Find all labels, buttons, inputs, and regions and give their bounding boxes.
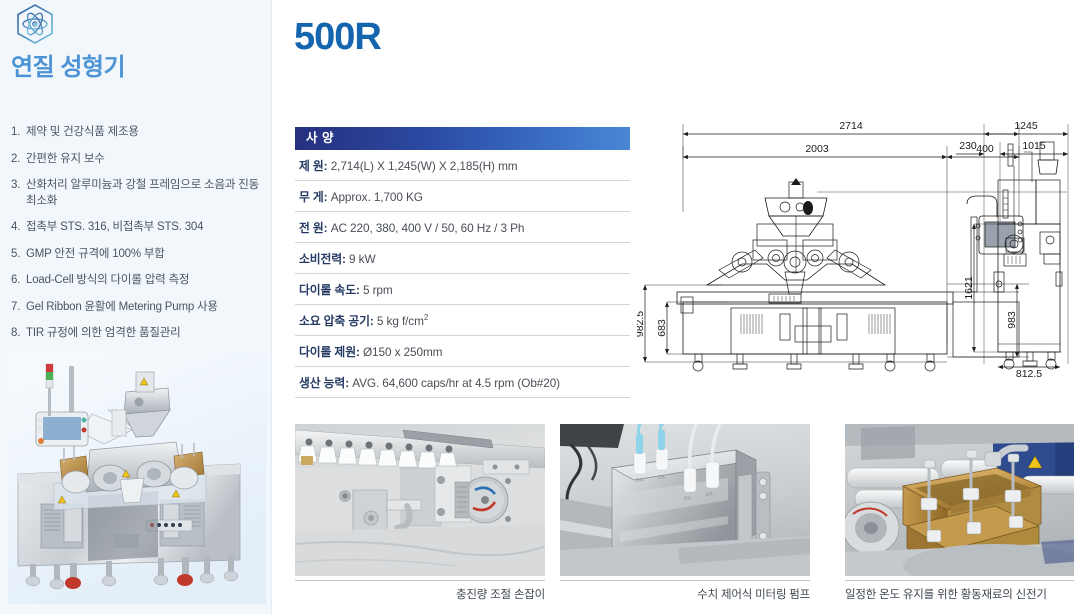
list-item-number: 1. [11, 125, 20, 141]
photo-card: 일정한 온도 유지를 위한 황동재료의 신전기 [845, 424, 1074, 602]
feature-list: 1.제약 및 건강식품 제조용 2.간편한 유지 보수 3.산화처리 알루미늄과… [11, 125, 261, 353]
list-item: 5.GMP 안전 규격에 100% 부합 [11, 247, 261, 263]
spec-label: 전 원: [299, 221, 328, 235]
list-item: 6.Load-Cell 방식의 다이롤 압력 측정 [11, 273, 261, 289]
photo-gallery: 충진량 조절 손잡이 [295, 424, 1074, 604]
list-item: 8.TIR 규정에 의한 엄격한 품질관리 [11, 326, 261, 342]
spec-value: AVG. 64,600 caps/hr at 4.5 rpm (Ob#20) [349, 376, 560, 390]
svg-text:OIL: OIL [705, 491, 714, 498]
atom-hexagon-icon [10, 2, 60, 44]
table-row: 무 게: Approx. 1,700 KG [295, 181, 630, 212]
photo-caption: 수치 제어식 미터링 펌프 [560, 580, 810, 602]
spec-label: 다이롤 속도: [299, 283, 360, 297]
brass-spreader-box-photo [845, 424, 1074, 576]
dim-2714: 2714 [839, 120, 863, 132]
spec-value: Ø150 x 250mm [360, 345, 443, 359]
spec-label: 소비전력: [299, 252, 346, 266]
list-item-label: GMP 안전 규격에 100% 부합 [26, 248, 165, 260]
table-row: 소비전력: 9 kW [295, 243, 630, 274]
photo-card: 충진량 조절 손잡이 [295, 424, 545, 602]
spec-label: 제 원: [299, 159, 328, 173]
logo [10, 2, 60, 44]
spec-label: 소요 압축 공기: [299, 314, 374, 328]
spec-value: 5 kg f/cm [374, 314, 424, 328]
photo-caption: 일정한 온도 유지를 위한 황동재료의 신전기 [845, 580, 1074, 602]
spec-table-header: 사 양 [295, 127, 630, 150]
dim-1245: 1245 [1014, 120, 1038, 132]
dim-2003: 2003 [805, 143, 829, 155]
page-title: 500R [294, 16, 381, 59]
spec-label: 다이롤 제원: [299, 345, 360, 359]
spec-label: 생산 능력: [299, 376, 349, 390]
table-row: 생산 능력: AVG. 64,600 caps/hr at 4.5 rpm (O… [295, 367, 630, 398]
list-item-label: Load-Cell 방식의 다이롤 압력 측정 [26, 274, 189, 286]
list-item-number: 7. [11, 300, 20, 316]
list-item-label: 접촉부 STS. 316, 비접촉부 STS. 304 [26, 221, 203, 233]
svg-text:OIL: OIL [635, 477, 644, 484]
side-elevation-drawing: 1245 1015 230 1621 812.5 [952, 112, 1074, 377]
spec-value-superscript: 2 [424, 313, 428, 322]
svg-text:OIL: OIL [657, 474, 666, 481]
list-item: 3.산화처리 알루미늄과 강철 프레임으로 소음과 진동 최소화 [11, 178, 261, 209]
list-item-number: 3. [11, 178, 20, 194]
table-row: 소요 압축 공기: 5 kg f/cm2 [295, 305, 630, 336]
list-item-number: 6. [11, 273, 20, 289]
sidebar: 연질 성형기 1.제약 및 건강식품 제조용 2.간편한 유지 보수 3.산화처… [0, 0, 272, 614]
spec-value: 2,714(L) X 1,245(W) X 2,185(H) mm [328, 159, 518, 173]
list-item-label: 산화처리 알루미늄과 강철 프레임으로 소음과 진동 최소화 [26, 179, 259, 207]
list-item-label: 간편한 유지 보수 [26, 153, 105, 165]
list-item-label: TIR 규정에 의한 엄격한 품질관리 [26, 327, 180, 339]
list-item-label: 제약 및 건강식품 제조용 [26, 126, 139, 138]
photo-caption: 충진량 조절 손잡이 [295, 580, 545, 602]
spec-value: AC 220, 380, 400 V / 50, 60 Hz / 3 Ph [328, 221, 525, 235]
list-item-label: Gel Ribbon 윤활에 Metering Pump 사용 [26, 301, 218, 313]
list-item: 1.제약 및 건강식품 제조용 [11, 125, 261, 141]
spec-value: 5 rpm [360, 283, 393, 297]
numeric-control-metering-pump-photo: OIL OIL OIL OIL [560, 424, 810, 576]
specification-table: 사 양 제 원: 2,714(L) X 1,245(W) X 2,185(H) … [295, 127, 630, 398]
list-item-number: 2. [11, 152, 20, 168]
main-content: 500R 사 양 제 원: 2,714(L) X 1,245(W) X 2,18… [272, 0, 1074, 614]
table-row: 다이롤 제원: Ø150 x 250mm [295, 336, 630, 367]
list-item: 7.Gel Ribbon 윤활에 Metering Pump 사용 [11, 300, 261, 316]
spec-value: Approx. 1,700 KG [328, 190, 423, 204]
list-item-number: 5. [11, 247, 20, 263]
dim-1621: 1621 [963, 276, 975, 300]
dim-812-5: 812.5 [1016, 368, 1042, 377]
spec-label: 무 게: [299, 190, 328, 204]
table-row: 전 원: AC 220, 380, 400 V / 50, 60 Hz / 3 … [295, 212, 630, 243]
table-row: 다이롤 속도: 5 rpm [295, 274, 630, 305]
svg-text:OIL: OIL [683, 495, 692, 502]
list-item-number: 4. [11, 220, 20, 236]
filling-volume-adjust-knob-photo [295, 424, 545, 576]
list-item: 2.간편한 유지 보수 [11, 152, 261, 168]
spec-value: 9 kW [346, 252, 376, 266]
list-item-number: 8. [11, 326, 20, 342]
dim-982-5: 982.5 [637, 311, 646, 337]
table-row: 제 원: 2,714(L) X 1,245(W) X 2,185(H) mm [295, 150, 630, 181]
photo-card: OIL OIL OIL OIL 수치 제어식 미터링 펌프 [560, 424, 810, 602]
machine-photo [8, 352, 266, 604]
dim-683: 683 [656, 319, 668, 337]
brand-title: 연질 성형기 [11, 47, 125, 82]
list-item: 4.접촉부 STS. 316, 비접촉부 STS. 304 [11, 220, 261, 236]
dim-230: 230 [959, 140, 977, 152]
